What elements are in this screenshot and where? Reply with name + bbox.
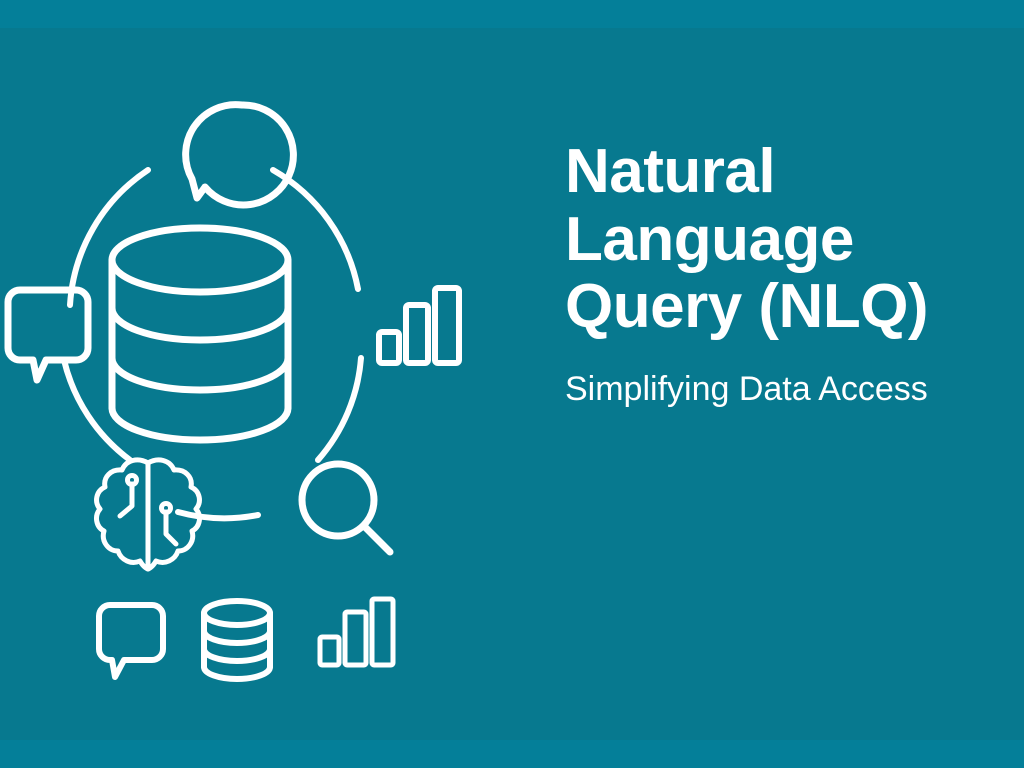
footer-bar-2 xyxy=(345,612,366,665)
database-top-disc xyxy=(112,228,288,292)
brain-circuit-left-trace xyxy=(120,484,132,516)
page-title-line-1: Natural xyxy=(565,138,1015,206)
slide-canvas: Natural Language Query (NLQ) Simplifying… xyxy=(0,0,1024,768)
bottom-accent-band xyxy=(0,740,1024,768)
bar-chart-bar-3 xyxy=(435,288,459,363)
search-icon xyxy=(302,464,390,552)
page-title-line-2: Language xyxy=(565,206,1015,274)
footer-bar-chart-icon xyxy=(320,599,393,665)
ring-arc-bottom-center xyxy=(178,512,258,518)
database-ring-2 xyxy=(112,358,288,390)
database-bottom-curve xyxy=(112,408,288,440)
database-ring-1 xyxy=(112,308,288,340)
footer-database-ring-2 xyxy=(204,649,270,661)
footer-database-bottom-curve xyxy=(204,667,270,679)
footer-speech-bubble-rect-icon xyxy=(99,605,163,677)
footer-bar-3 xyxy=(372,599,393,665)
bar-chart-icon xyxy=(379,288,459,363)
speech-bubble-rect-shape xyxy=(8,290,88,380)
brain-circuit-right-trace xyxy=(166,512,176,544)
bar-chart-bar-2 xyxy=(406,305,428,363)
speech-bubble-rect-icon xyxy=(8,290,88,380)
top-accent-band xyxy=(0,0,1024,28)
title-block: Natural Language Query (NLQ) Simplifying… xyxy=(565,138,1015,410)
page-subtitle: Simplifying Data Access xyxy=(565,369,1015,410)
footer-speech-bubble-shape xyxy=(99,605,163,677)
page-title-line-3: Query (NLQ) xyxy=(565,273,1015,341)
footer-database-ring-1 xyxy=(204,631,270,643)
brain-circuit-right-node xyxy=(162,504,171,513)
speech-bubble-round-icon xyxy=(186,105,294,205)
ring-arc-bottom-right xyxy=(318,358,361,460)
footer-database-icon xyxy=(204,601,270,679)
nlq-concept-diagram xyxy=(0,60,500,700)
bar-chart-bar-1 xyxy=(379,332,399,363)
database-icon xyxy=(112,228,288,440)
footer-database-top-disc xyxy=(204,601,270,625)
speech-bubble-round-shape xyxy=(186,105,294,205)
footer-bar-1 xyxy=(320,637,339,665)
search-handle xyxy=(364,526,390,552)
footer-icon-row xyxy=(99,599,393,679)
brain-circuit-left-node xyxy=(128,476,137,485)
